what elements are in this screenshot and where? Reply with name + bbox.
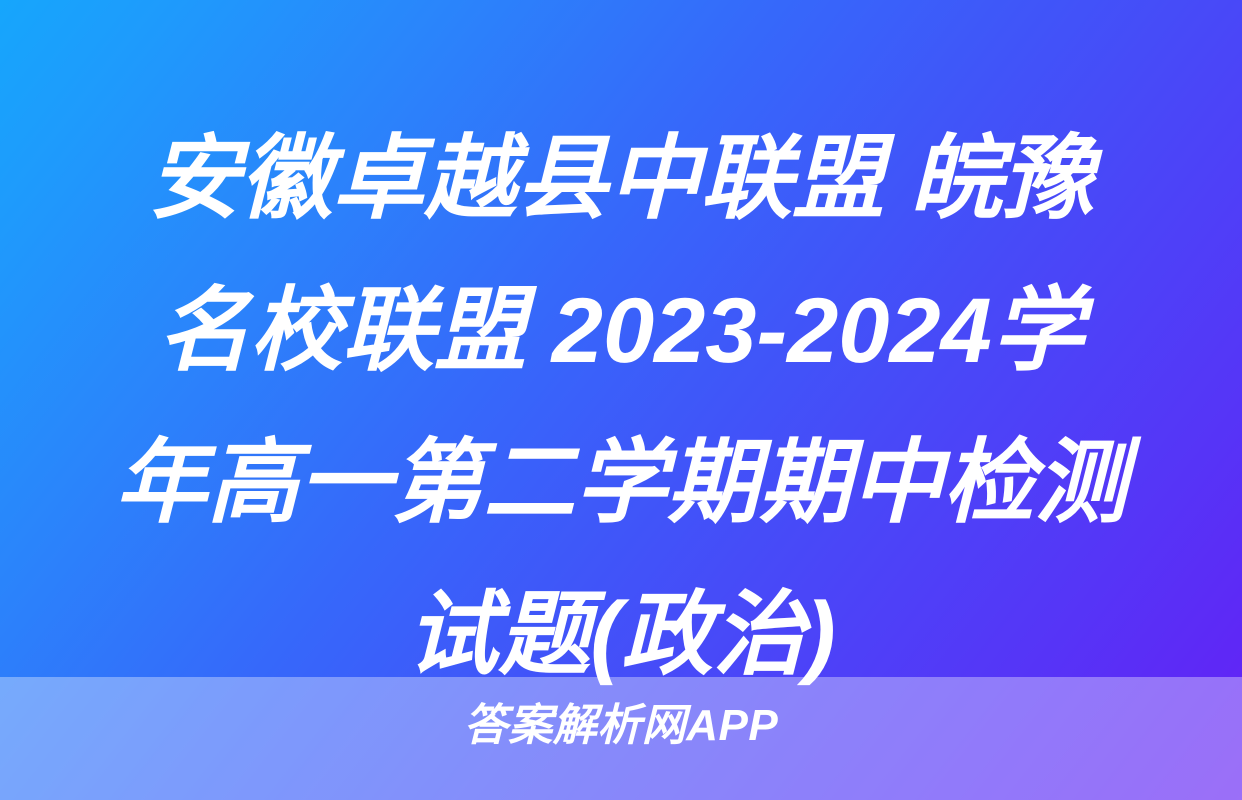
exam-title: 安徽卓越县中联盟 皖豫 名校联盟 2023-2024学 年高一第二学期期中检测 … [0, 103, 1242, 711]
title-line-3: 年高一第二学期期中检测 [96, 407, 1146, 559]
watermark-label: 答案解析网APP [0, 698, 1242, 754]
title-line-2: 名校联盟 2023-2024学 [96, 255, 1146, 407]
title-line-1: 安徽卓越县中联盟 皖豫 [96, 103, 1146, 255]
poster-canvas: 安徽卓越县中联盟 皖豫 名校联盟 2023-2024学 年高一第二学期期中检测 … [0, 0, 1242, 800]
title-line-4: 试题(政治) [96, 559, 1146, 711]
